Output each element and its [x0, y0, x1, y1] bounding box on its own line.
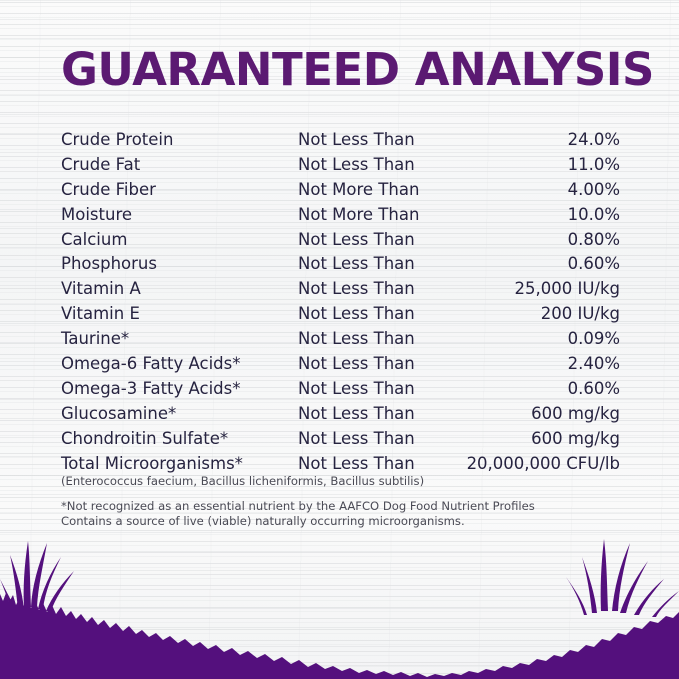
- nutrient-qualifier: Not Less Than: [298, 277, 415, 302]
- nutrient-name: Omega-6 Fatty Acids*: [61, 352, 241, 377]
- table-row: Omega-3 Fatty Acids*Not Less Than0.60%: [61, 377, 620, 402]
- nutrient-amount: 4.00%: [568, 178, 620, 203]
- nutrient-name: Crude Protein: [61, 128, 173, 153]
- table-row: CalciumNot Less Than0.80%: [61, 228, 620, 253]
- nutrient-qualifier: Not Less Than: [298, 302, 415, 327]
- nutrient-amount: 20,000,000 CFU/lb: [467, 452, 620, 477]
- grass-silhouette-graphic: [0, 519, 679, 679]
- table-row: PhosphorusNot Less Than0.60%: [61, 252, 620, 277]
- nutrient-name: Crude Fiber: [61, 178, 156, 203]
- nutrient-amount: 0.09%: [568, 327, 620, 352]
- table-row: Vitamin ENot Less Than200 IU/kg: [61, 302, 620, 327]
- nutrient-amount: 2.40%: [568, 352, 620, 377]
- nutrient-name: Omega-3 Fatty Acids*: [61, 377, 241, 402]
- nutrient-name: Moisture: [61, 203, 132, 228]
- nutrient-name: Crude Fat: [61, 153, 140, 178]
- nutrient-amount: 25,000 IU/kg: [514, 277, 620, 302]
- grass-silhouette: [0, 519, 679, 679]
- nutrient-amount: 600 mg/kg: [531, 427, 620, 452]
- nutrient-name: Chondroitin Sulfate*: [61, 427, 228, 452]
- nutrient-name: Vitamin A: [61, 277, 141, 302]
- nutrient-qualifier: Not Less Than: [298, 452, 415, 477]
- nutrient-qualifier: Not Less Than: [298, 327, 415, 352]
- page-title: GUARANTEED ANALYSIS: [61, 47, 654, 92]
- guaranteed-analysis-table: Crude ProteinNot Less Than24.0%Crude Fat…: [61, 128, 620, 476]
- nutrient-qualifier: Not More Than: [298, 178, 419, 203]
- table-row: MoistureNot More Than10.0%: [61, 203, 620, 228]
- footnote-asterisk-note: *Not recognized as an essential nutrient…: [61, 499, 631, 514]
- nutrient-amount: 24.0%: [568, 128, 620, 153]
- nutrient-qualifier: Not Less Than: [298, 402, 415, 427]
- nutrient-qualifier: Not Less Than: [298, 427, 415, 452]
- nutrient-name: Glucosamine*: [61, 402, 176, 427]
- nutrient-name: Calcium: [61, 228, 127, 253]
- table-row: Glucosamine*Not Less Than600 mg/kg: [61, 402, 620, 427]
- nutrient-name: Taurine*: [61, 327, 129, 352]
- table-row: Crude ProteinNot Less Than24.0%: [61, 128, 620, 153]
- nutrient-amount: 0.80%: [568, 228, 620, 253]
- table-row: Omega-6 Fatty Acids*Not Less Than2.40%: [61, 352, 620, 377]
- table-row: Crude FiberNot More Than4.00%: [61, 178, 620, 203]
- nutrient-name: Phosphorus: [61, 252, 157, 277]
- nutrient-name: Vitamin E: [61, 302, 140, 327]
- nutrient-amount: 0.60%: [568, 252, 620, 277]
- nutrient-qualifier: Not Less Than: [298, 128, 415, 153]
- nutrient-qualifier: Not Less Than: [298, 153, 415, 178]
- nutrient-amount: 600 mg/kg: [531, 402, 620, 427]
- nutrient-name: Total Microorganisms*: [61, 452, 243, 477]
- nutrient-amount: 10.0%: [568, 203, 620, 228]
- table-row: Total Microorganisms*Not Less Than20,000…: [61, 452, 620, 477]
- table-row: Crude FatNot Less Than11.0%: [61, 153, 620, 178]
- footnote-organism-list: (Enterococcus faecium, Bacillus lichenif…: [61, 474, 631, 489]
- nutrient-qualifier: Not Less Than: [298, 352, 415, 377]
- nutrient-qualifier: Not Less Than: [298, 252, 415, 277]
- nutrient-amount: 200 IU/kg: [541, 302, 620, 327]
- nutrient-amount: 11.0%: [568, 153, 620, 178]
- table-row: Taurine*Not Less Than0.09%: [61, 327, 620, 352]
- nutrient-qualifier: Not Less Than: [298, 377, 415, 402]
- nutrient-qualifier: Not More Than: [298, 203, 419, 228]
- nutrient-amount: 0.60%: [568, 377, 620, 402]
- table-row: Chondroitin Sulfate*Not Less Than600 mg/…: [61, 427, 620, 452]
- nutrient-qualifier: Not Less Than: [298, 228, 415, 253]
- table-row: Vitamin ANot Less Than25,000 IU/kg: [61, 277, 620, 302]
